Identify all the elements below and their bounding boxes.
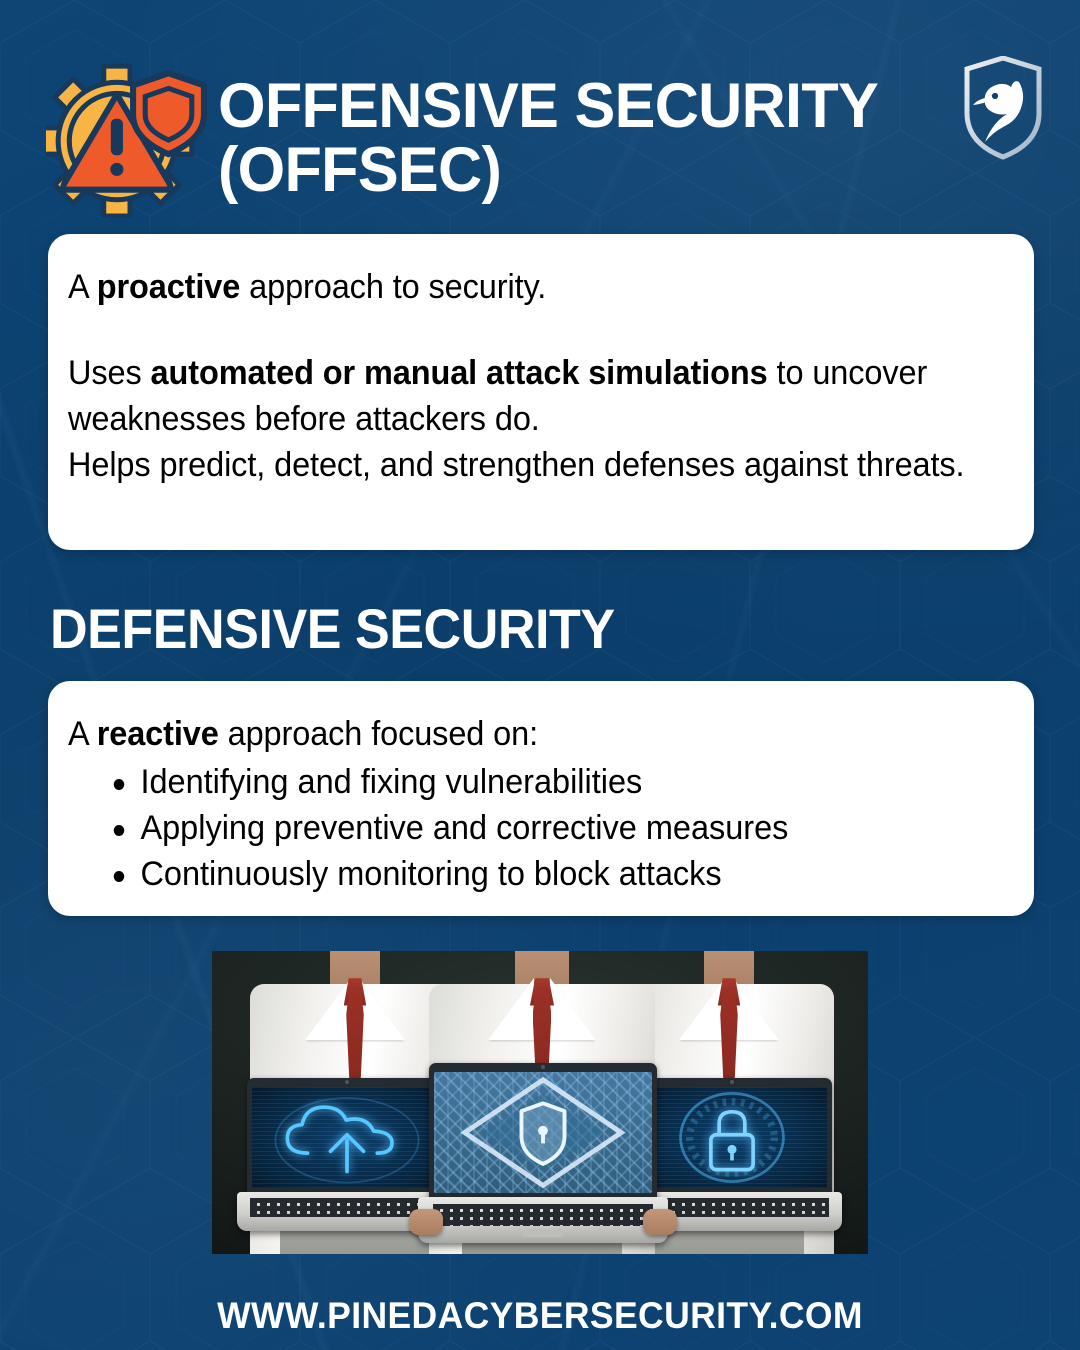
laptop-center-base	[418, 1197, 669, 1243]
collar-left	[305, 978, 351, 1040]
laptop-left-lid	[247, 1078, 447, 1195]
page-title-line-2: (OFFSEC)	[218, 138, 936, 202]
cloud-upload-icon	[252, 1087, 442, 1188]
list-item: Continuously monitoring to block attacks	[108, 851, 969, 897]
laptop-center	[429, 1063, 657, 1239]
page-title: OFFENSIVE SECURITY (OFFSEC)	[218, 74, 958, 202]
shield-lock-icon	[434, 1072, 652, 1193]
hand-left	[409, 1209, 443, 1235]
list-item: Applying preventive and corrective measu…	[108, 805, 969, 851]
offensive-paragraph-1: A proactive approach to security.	[68, 264, 968, 310]
collar-right	[550, 978, 596, 1040]
hand-right	[643, 1209, 677, 1235]
shield-badge-icon	[133, 73, 204, 154]
footer-website-url[interactable]: WWW.PINEDACYBERSECURITY.COM	[22, 1295, 1059, 1337]
collar-right	[359, 978, 405, 1040]
webcam	[730, 1080, 734, 1084]
offensive-security-card-body: A proactive approach to security. Uses a…	[48, 234, 1034, 550]
padlock-icon	[637, 1087, 827, 1188]
laptop-center-lid	[429, 1063, 657, 1200]
intro-suffix: approach focused on:	[219, 715, 538, 753]
defensive-security-heading: DEFENSIVE SECURITY	[50, 600, 615, 658]
gear-alert-shield-icon	[46, 56, 208, 218]
collar-right	[733, 978, 779, 1040]
para1-bold: proactive	[97, 268, 241, 306]
para2-prefix: Uses	[68, 354, 151, 392]
defensive-security-card-body: A reactive approach focused on: Identify…	[48, 681, 1034, 916]
collar-left	[679, 978, 725, 1040]
defensive-bullet-list: Identifying and fixing vulnerabilities A…	[68, 759, 1010, 897]
laptop-right-lid	[632, 1078, 832, 1195]
header: OFFENSIVE SECURITY (OFFSEC)	[0, 0, 1080, 225]
collar-left	[488, 978, 534, 1040]
defensive-intro: A reactive approach focused on:	[68, 711, 968, 757]
intro-bold: reactive	[97, 715, 219, 753]
offensive-paragraph-3: Helps predict, detect, and strengthen de…	[68, 442, 968, 488]
webcam	[541, 1065, 545, 1069]
offensive-paragraph-2: Uses automated or manual attack simulati…	[68, 350, 968, 442]
webcam	[345, 1080, 349, 1084]
para2-bold: automated or manual attack simulations	[151, 354, 768, 392]
list-item: Identifying and fixing vulnerabilities	[108, 759, 969, 805]
laptop-left-screen	[252, 1087, 442, 1188]
laptop-right-screen	[637, 1087, 827, 1188]
intro-prefix: A	[68, 715, 97, 753]
para1-suffix: approach to security.	[240, 268, 546, 306]
trackpad	[523, 1229, 563, 1237]
three-professionals-holding-laptops-photo	[212, 951, 868, 1254]
eagle-shield-logo	[963, 56, 1043, 160]
keyboard	[433, 1204, 654, 1226]
paragraph-spacer	[68, 310, 1010, 350]
page-title-line-1: OFFENSIVE SECURITY	[218, 74, 936, 138]
offensive-security-card: A proactive approach to security. Uses a…	[48, 234, 1034, 550]
defensive-security-card: A reactive approach focused on: Identify…	[48, 681, 1034, 916]
para1-prefix: A	[68, 268, 97, 306]
laptop-center-screen	[434, 1072, 652, 1193]
